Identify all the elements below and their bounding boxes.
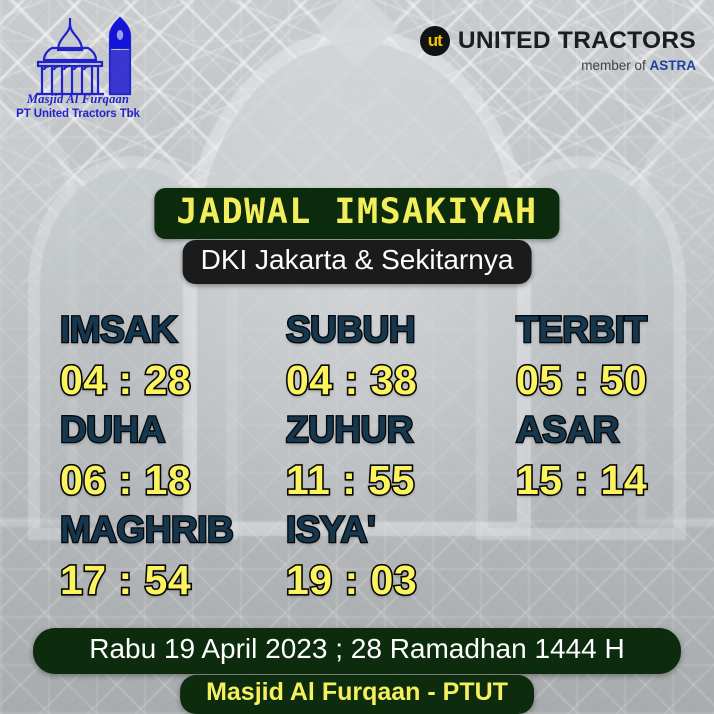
united-tractors-logo: ut UNITED TRACTORS member of ASTRA: [420, 26, 696, 73]
prayer-label-row: DUHA ZUHUR ASAR: [0, 412, 714, 448]
page-subtitle: DKI Jakarta & Sekitarnya: [183, 240, 532, 284]
prayer-time: 04 : 28: [60, 360, 238, 401]
prayer-time-cell-empty: [476, 560, 714, 601]
prayer-time-row: 17 : 54 19 : 03: [0, 560, 714, 601]
prayer-cell-asar: ASAR: [476, 412, 714, 448]
page-subtitle-text: DKI Jakarta & Sekitarnya: [201, 245, 514, 276]
masjid-logo-name: Masjid Al Furqaan: [14, 92, 142, 107]
prayer-cell-terbit: TERBIT: [476, 312, 714, 348]
prayer-label: SUBUH: [286, 312, 476, 348]
imsakiyah-poster: Masjid Al Furqaan PT United Tractors Tbk…: [0, 0, 714, 714]
astra-member-line: member of ASTRA: [420, 58, 696, 73]
united-tractors-wordmark: UNITED TRACTORS: [458, 27, 696, 55]
prayer-time-row: 04 : 28 04 : 38 05 : 50: [0, 360, 714, 401]
prayer-cell-isya: ISYA': [238, 512, 476, 548]
place-banner: Masjid Al Furqaan - PTUT: [180, 675, 534, 714]
prayer-time-cell-duha: 06 : 18: [0, 460, 238, 501]
page-title-text: JADWAL IMSAKIYAH: [176, 195, 537, 230]
prayer-cell-maghrib: MAGHRIB: [0, 512, 238, 548]
ut-monogram-text: ut: [428, 32, 442, 49]
prayer-time-cell-asar: 15 : 14: [476, 460, 714, 501]
prayer-time-cell-isya: 19 : 03: [238, 560, 476, 601]
prayer-time-cell-terbit: 05 : 50: [476, 360, 714, 401]
prayer-label: DUHA: [60, 412, 238, 448]
page-title: JADWAL IMSAKIYAH: [154, 188, 559, 239]
prayer-time-cell-imsak: 04 : 28: [0, 360, 238, 401]
prayer-label: ZUHUR: [286, 412, 476, 448]
date-text: Rabu 19 April 2023 ; 28 Ramadhan 1444 H: [33, 634, 681, 665]
prayer-time-row: 06 : 18 11 : 55 15 : 14: [0, 460, 714, 501]
astra-wordmark: ASTRA: [650, 58, 697, 73]
prayer-label: IMSAK: [60, 312, 238, 348]
prayer-label: ISYA': [286, 512, 476, 548]
prayer-label-row: MAGHRIB ISYA': [0, 512, 714, 548]
prayer-cell-duha: DUHA: [0, 412, 238, 448]
date-banner: Rabu 19 April 2023 ; 28 Ramadhan 1444 H: [33, 628, 681, 674]
prayer-time: 17 : 54: [60, 560, 238, 601]
prayer-time: 04 : 38: [286, 360, 476, 401]
prayer-cell-empty: [476, 512, 714, 548]
ut-monogram-icon: ut: [420, 26, 450, 56]
prayer-time: 06 : 18: [60, 460, 238, 501]
masjid-logo-company: PT United Tractors Tbk: [10, 108, 146, 120]
place-text: Masjid Al Furqaan - PTUT: [206, 679, 508, 707]
prayer-label: ASAR: [516, 412, 714, 448]
prayer-time: 11 : 55: [286, 460, 476, 501]
prayer-times-grid: IMSAK SUBUH TERBIT 04 : 28 04 : 38 05 : …: [0, 312, 714, 612]
prayer-label-row: IMSAK SUBUH TERBIT: [0, 312, 714, 348]
prayer-time: 05 : 50: [516, 360, 714, 401]
prayer-label: MAGHRIB: [60, 512, 238, 548]
member-of-label: member of: [581, 58, 649, 73]
prayer-cell-imsak: IMSAK: [0, 312, 238, 348]
prayer-time: 15 : 14: [516, 460, 714, 501]
prayer-time-cell-subuh: 04 : 38: [238, 360, 476, 401]
prayer-time: 19 : 03: [286, 560, 476, 601]
prayer-label: TERBIT: [516, 312, 714, 348]
prayer-cell-zuhur: ZUHUR: [238, 412, 476, 448]
prayer-cell-subuh: SUBUH: [238, 312, 476, 348]
prayer-time-cell-maghrib: 17 : 54: [0, 560, 238, 601]
prayer-time-cell-zuhur: 11 : 55: [238, 460, 476, 501]
